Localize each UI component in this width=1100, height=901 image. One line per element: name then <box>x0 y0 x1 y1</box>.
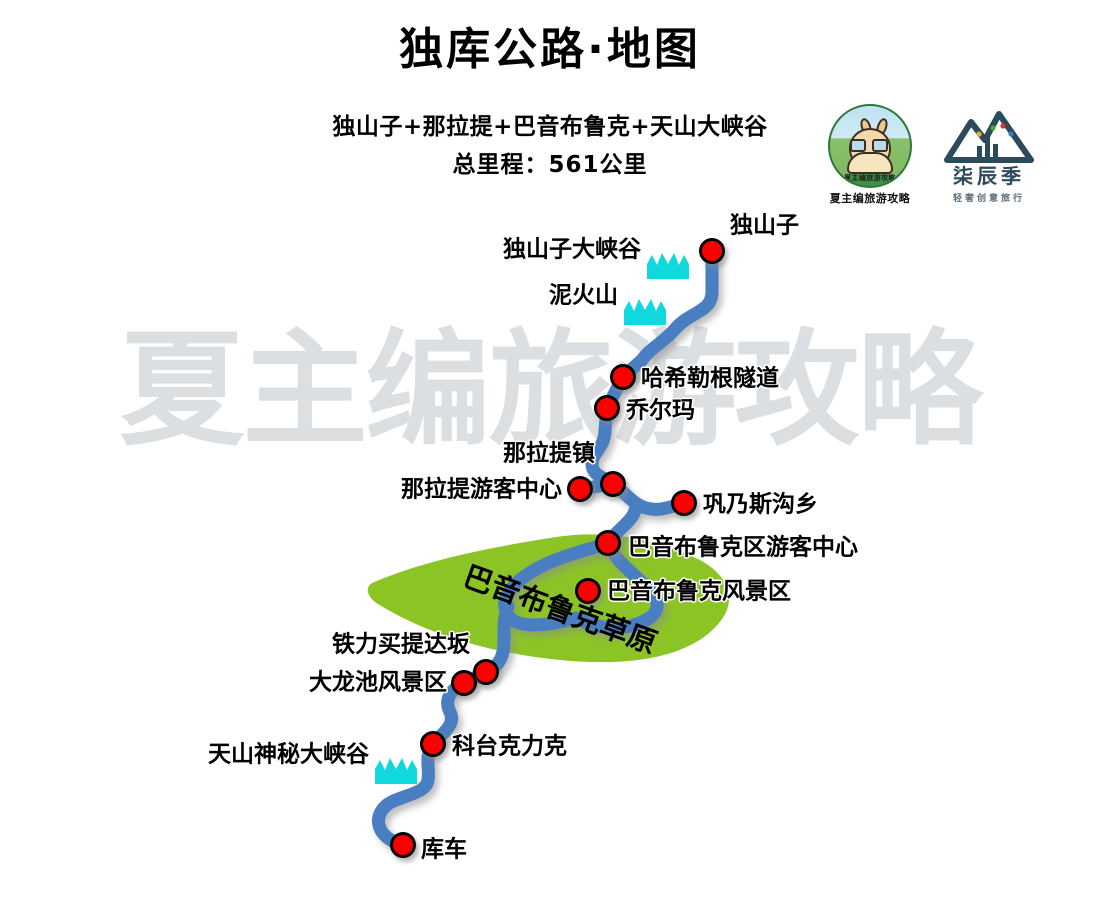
marker-label: 库车 <box>421 839 467 862</box>
map-marker[interactable] <box>597 532 620 555</box>
marker-label: 科台克力克 <box>452 736 567 759</box>
scenic-spot-label: 泥火山 <box>549 285 618 308</box>
map-marker[interactable] <box>596 397 619 420</box>
map-marker[interactable] <box>602 473 625 496</box>
map-marker[interactable] <box>475 661 498 684</box>
map-marker[interactable] <box>673 492 696 515</box>
marker-label: 大龙池风景区 <box>309 672 447 695</box>
marker-label: 巴音布鲁克区游客中心 <box>628 537 858 560</box>
map-marker[interactable] <box>422 733 445 756</box>
map-canvas: 巴音布鲁克草原 独山子哈希勒根隧道乔尔玛那拉提镇那拉提游客中心巩乃斯沟乡巴音布鲁… <box>0 0 1100 901</box>
map-poster: 独库公路·地图 独山子+那拉提+巴音布鲁克+天山大峡谷 总里程：561公里 夏主… <box>0 0 1100 901</box>
marker-label: 那拉提镇 <box>503 443 595 466</box>
map-marker[interactable] <box>701 240 724 263</box>
marker-label: 那拉提游客中心 <box>401 479 562 502</box>
map-marker[interactable] <box>453 672 476 695</box>
marker-label: 巴音布鲁克风景区 <box>607 581 791 604</box>
marker-label: 巩乃斯沟乡 <box>703 494 818 517</box>
marker-label: 乔尔玛 <box>626 400 695 423</box>
scenic-spot-label: 天山神秘大峡谷 <box>208 744 369 767</box>
scenic-spot-label: 独山子大峡谷 <box>503 239 641 262</box>
marker-label: 哈希勒根隧道 <box>641 368 779 391</box>
marker-label: 独山子 <box>730 215 799 238</box>
map-marker[interactable] <box>392 834 415 857</box>
map-marker[interactable] <box>612 366 635 389</box>
marker-label: 铁力买提达坂 <box>332 634 470 657</box>
map-marker[interactable] <box>569 478 592 501</box>
